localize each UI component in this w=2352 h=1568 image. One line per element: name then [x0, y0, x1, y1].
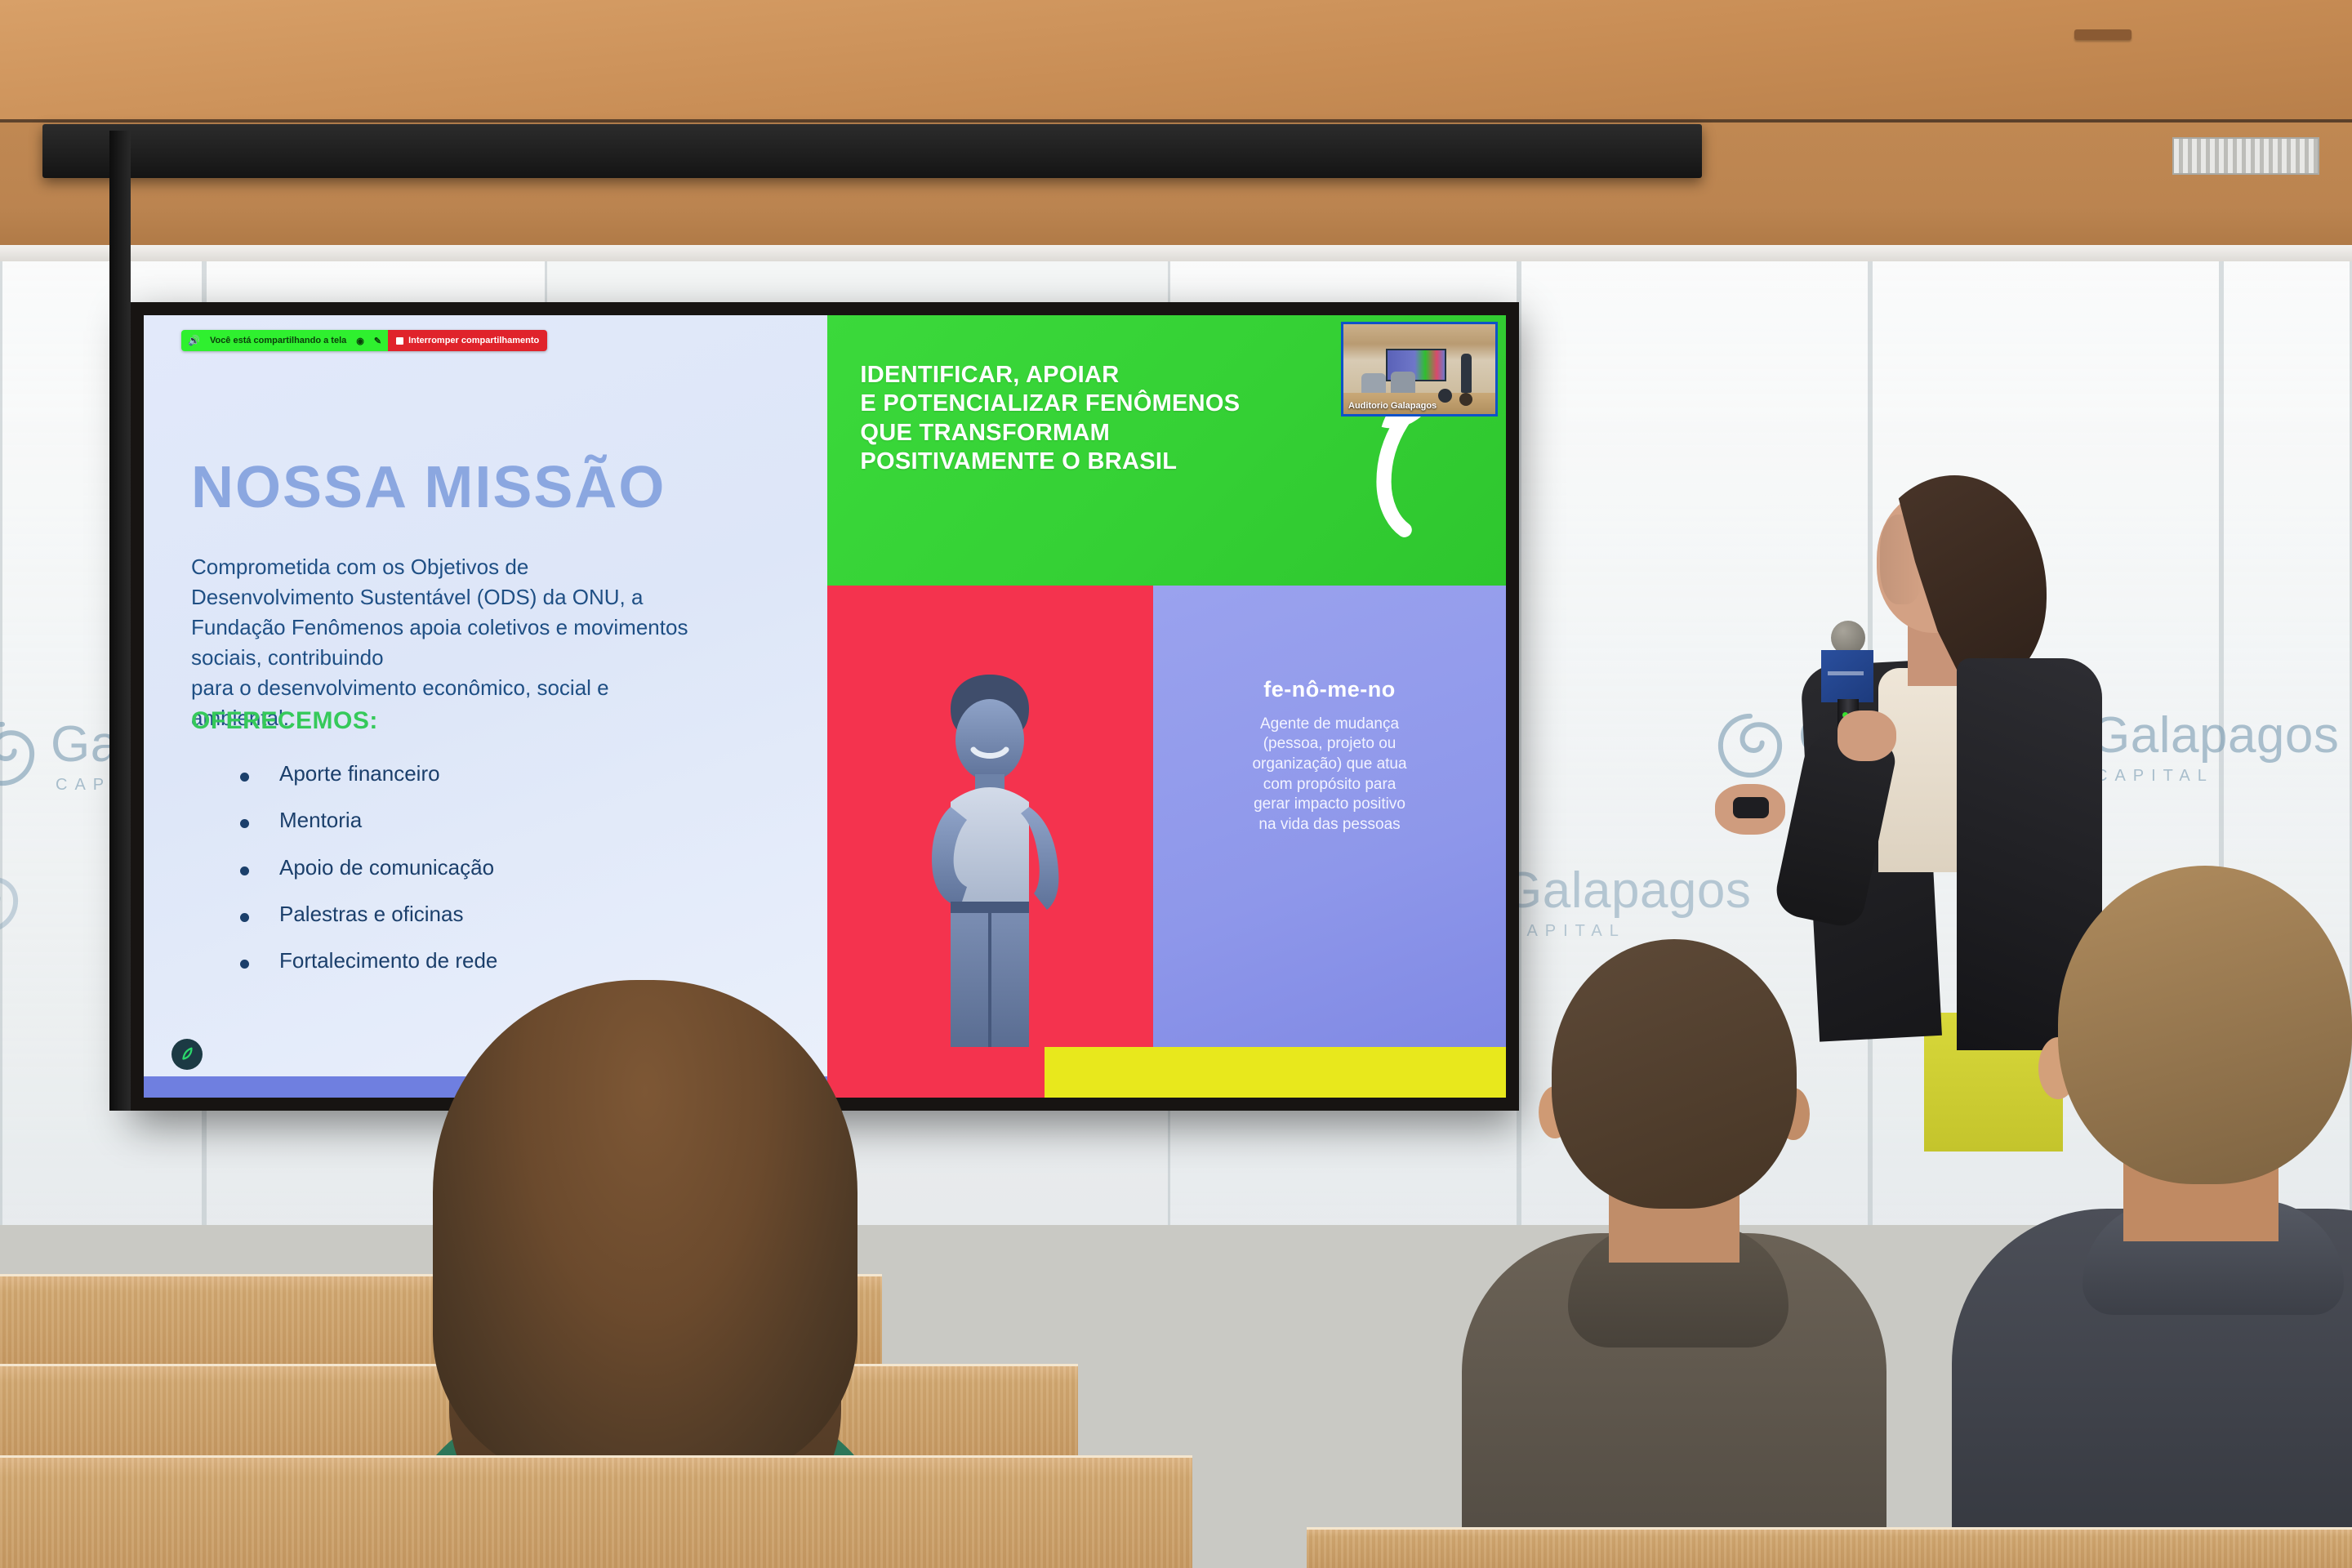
bench-row — [1307, 1527, 2352, 1568]
list-item: Mentoria — [240, 809, 497, 831]
slide-subheading: OFERECEMOS: — [191, 707, 378, 735]
list-item — [1984, 866, 2352, 1568]
wall-logo-subtitle: CAPITAL — [1503, 923, 1751, 939]
leaf-check-icon — [178, 1045, 196, 1063]
share-active-icon: 🔊 — [188, 335, 200, 346]
ceiling-upper — [0, 0, 2352, 122]
slide-definition-panel: fe-nô-me-no Agente de mudança (pessoa, p… — [1153, 586, 1506, 1047]
slide-title: NOSSA MISSÃO — [191, 454, 666, 521]
wall-logo-subtitle: CAPITAL — [2091, 768, 2339, 784]
speaker-hand-mic — [1837, 710, 1896, 761]
galapagos-spiral-icon — [0, 719, 38, 793]
definition-word: fe-nô-me-no — [1153, 677, 1506, 702]
stop-square-icon — [396, 337, 403, 345]
slide-right-collage: IDENTIFICAR, APOIAR E POTENCIALIZAR FENÔ… — [827, 315, 1506, 1098]
bench-row — [0, 1455, 1192, 1568]
slide-headline: IDENTIFICAR, APOIAR E POTENCIALIZAR FENÔ… — [860, 361, 1350, 477]
circle-icon[interactable]: ◉ — [356, 336, 364, 346]
projector-screen-housing — [42, 124, 1702, 178]
list-item: Aporte financeiro — [240, 763, 497, 785]
stop-share-label: Interromper compartilhamento — [408, 336, 539, 345]
slide-color-strip — [827, 1047, 1506, 1098]
attendee-head — [1552, 939, 1797, 1209]
slide-photo-panel — [827, 586, 1153, 1047]
ceiling-slot-light — [2074, 29, 2131, 40]
thumbnail-attendee — [1438, 389, 1452, 403]
webcam-label: Auditorio Galapagos — [1348, 401, 1437, 411]
thumbnail-attendee — [1459, 393, 1472, 406]
slide-bullet-list: Aporte financeiro Mentoria Apoio de comu… — [240, 763, 497, 996]
list-item: Apoio de comunicação — [240, 857, 497, 879]
wall-logo: Galapagos CAPITAL — [2091, 710, 2339, 784]
strip-yellow — [1045, 1047, 1506, 1098]
portrait-photo — [872, 671, 1109, 1047]
galapagos-spiral-icon — [1715, 710, 1785, 785]
stop-share-button[interactable]: Interromper compartilhamento — [388, 330, 547, 351]
wall-logo — [0, 866, 21, 940]
share-status: 🔊 Você está compartilhando a tela ◉ ✎ — [181, 330, 388, 351]
foundation-logo-badge — [171, 1039, 203, 1070]
ceiling-vent — [2172, 137, 2319, 175]
list-item: Palestras e oficinas — [240, 903, 497, 925]
screen-share-toolbar[interactable]: 🔊 Você está compartilhando a tela ◉ ✎ In… — [181, 330, 547, 351]
slide-paragraph: Comprometida com os Objetivos de Desenvo… — [191, 552, 763, 733]
wall-logo-name: Galapagos — [1503, 866, 1751, 916]
thumbnail-speaker — [1461, 354, 1472, 393]
slide-headline-panel: IDENTIFICAR, APOIAR E POTENCIALIZAR FENÔ… — [827, 315, 1506, 586]
list-item: Fortalecimento de rede — [240, 950, 497, 972]
attendee-head — [2058, 866, 2352, 1184]
presentation-clicker[interactable] — [1733, 797, 1769, 818]
definition-body: Agente de mudança (pessoa, projeto ou or… — [1173, 715, 1486, 835]
wall-logo-name: Galapagos — [2091, 710, 2339, 761]
share-status-text: Você está compartilhando a tela — [210, 336, 346, 345]
mic-flag-brand — [1821, 650, 1873, 702]
galapagos-spiral-icon — [0, 866, 21, 940]
webcam-thumbnail[interactable]: Auditorio Galapagos — [1341, 322, 1498, 416]
auditorium-scene: Galapagos CAPITAL Galapagos CAPITAL Gala… — [0, 0, 2352, 1568]
attendee-hair — [433, 980, 857, 1486]
list-item — [1478, 939, 1870, 1568]
pencil-icon[interactable]: ✎ — [374, 336, 381, 346]
wall-logo: Galapagos CAPITAL — [1503, 866, 1751, 939]
